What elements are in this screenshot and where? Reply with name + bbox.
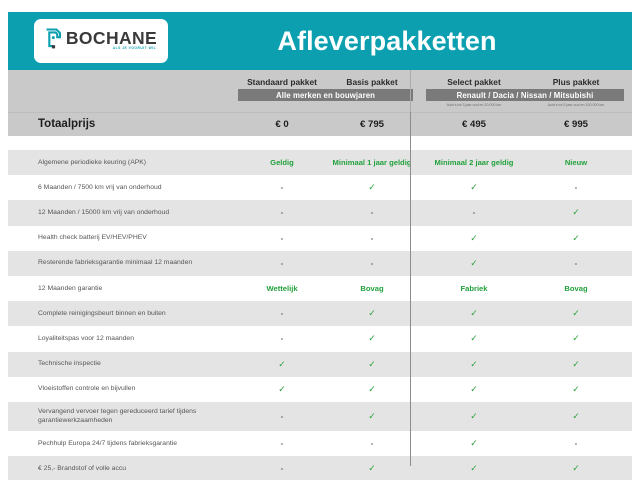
feature-label: Algemene periodieke keuring (APK): [38, 150, 238, 175]
feature-value-select: Minimaal 2 jaar geldig: [422, 150, 526, 175]
packages-comparison-table: Standaard pakket Basis pakket Select pak…: [8, 70, 632, 466]
table-column-headers: Standaard pakket Basis pakket Select pak…: [8, 70, 632, 112]
total-price-standaard: € 0: [230, 119, 334, 130]
feature-value-basis: ✓: [324, 402, 420, 431]
feature-value-basis: -: [324, 200, 420, 225]
feature-label: 6 Maanden / 7500 km vrij van onderhoud: [38, 175, 238, 200]
feature-value-plus: ✓: [526, 200, 626, 225]
feature-value-plus: ✓: [526, 402, 626, 431]
column-header-plus: Plus pakket: [526, 77, 626, 87]
feature-value-plus: ✓: [526, 226, 626, 251]
feature-value-standaard: -: [230, 175, 334, 200]
feature-value-select: -: [422, 200, 526, 225]
table-row: Loyaliteitspas voor 12 maanden-✓✓✓: [8, 326, 632, 351]
feature-value-basis: Minimaal 1 jaar geldig: [324, 150, 420, 175]
total-price-label: Totaalprijs: [38, 118, 95, 130]
column-header-select: Select pakket: [422, 77, 526, 87]
table-row: € 25,- Brandstof of volle accu-✓✓✓: [8, 456, 632, 480]
column-header-standaard: Standaard pakket: [230, 77, 334, 87]
brand-logo: BOCHANE ALS JE VOORUIT WIL: [45, 28, 157, 55]
feature-value-basis: ✓: [324, 456, 420, 480]
feature-value-basis: -: [324, 431, 420, 456]
feature-value-plus: Bovag: [526, 276, 626, 301]
group-divider: [410, 112, 411, 466]
feature-label: Loyaliteitspas voor 12 maanden: [38, 326, 238, 351]
feature-value-select: ✓: [422, 352, 526, 377]
column-note-select: Auto's tot 3 jaar oud en 20.000 km: [422, 103, 526, 107]
feature-label: Pechhulp Europa 24/7 tijdens fabrieksgar…: [38, 431, 238, 456]
afleverpakketten-sheet: BOCHANE ALS JE VOORUIT WIL Afleverpakket…: [0, 0, 640, 480]
feature-value-select: ✓: [422, 226, 526, 251]
feature-value-select: ✓: [422, 377, 526, 402]
feature-value-plus: ✓: [526, 456, 626, 480]
table-row: Algemene periodieke keuring (APK)GeldigM…: [8, 150, 632, 175]
feature-value-select: Fabriek: [422, 276, 526, 301]
brand-tagline: ALS JE VOORUIT WIL: [113, 47, 156, 50]
feature-value-standaard: -: [230, 226, 334, 251]
column-note-plus: Auto's tot 5 jaar oud en 100.000 km: [526, 103, 626, 107]
feature-label: € 25,- Brandstof of volle accu: [38, 456, 238, 480]
feature-label: 12 Maanden garantie: [38, 276, 238, 301]
feature-value-standaard: -: [230, 301, 334, 326]
table-row: Resterende fabrieksgarantie minimaal 12 …: [8, 251, 632, 276]
feature-value-select: ✓: [422, 326, 526, 351]
bochane-b-mark-icon: [45, 28, 62, 50]
total-price-select: € 495: [422, 119, 526, 130]
feature-label: Complete reinigingsbeurt binnen en buite…: [38, 301, 238, 326]
feature-value-plus: -: [526, 175, 626, 200]
page-header: BOCHANE ALS JE VOORUIT WIL Afleverpakket…: [8, 12, 632, 70]
feature-value-plus: ✓: [526, 326, 626, 351]
feature-value-select: ✓: [422, 175, 526, 200]
brand-logo-text: BOCHANE ALS JE VOORUIT WIL: [66, 30, 157, 48]
feature-value-standaard: -: [230, 326, 334, 351]
page-title: Afleverpakketten: [168, 26, 632, 57]
feature-value-plus: ✓: [526, 301, 626, 326]
total-price-row: Totaalprijs € 0 € 795 € 495 € 995: [8, 112, 632, 136]
total-price-plus: € 995: [526, 119, 626, 130]
total-price-basis: € 795: [324, 119, 420, 130]
feature-label: Resterende fabrieksgarantie minimaal 12 …: [38, 251, 238, 276]
table-row: 12 Maanden garantieWettelijkBovagFabriek…: [8, 276, 632, 301]
feature-value-select: ✓: [422, 456, 526, 480]
table-row: Vloeistoffen controle en bijvullen✓✓✓✓: [8, 377, 632, 402]
feature-value-standaard: -: [230, 431, 334, 456]
feature-value-standaard: Wettelijk: [230, 276, 334, 301]
feature-value-standaard: -: [230, 456, 334, 480]
feature-label: 12 Maanden / 15000 km vrij van onderhoud: [38, 200, 238, 225]
table-row: 6 Maanden / 7500 km vrij van onderhoud-✓…: [8, 175, 632, 200]
group-divider-top: [410, 70, 411, 112]
feature-label: Health check batterij EV/HEV/PHEV: [38, 226, 238, 251]
feature-value-plus: -: [526, 251, 626, 276]
feature-value-basis: ✓: [324, 175, 420, 200]
group-bar-all-brands: Alle merken en bouwjaren: [238, 89, 413, 101]
feature-value-standaard: -: [230, 200, 334, 225]
feature-value-select: ✓: [422, 402, 526, 431]
table-row: 12 Maanden / 15000 km vrij van onderhoud…: [8, 200, 632, 225]
feature-label: Vloeistoffen controle en bijvullen: [38, 377, 238, 402]
feature-value-select: ✓: [422, 251, 526, 276]
table-row: Health check batterij EV/HEV/PHEV--✓✓: [8, 226, 632, 251]
table-row: Pechhulp Europa 24/7 tijdens fabrieksgar…: [8, 431, 632, 456]
feature-value-select: ✓: [422, 301, 526, 326]
feature-value-standaard: -: [230, 251, 334, 276]
feature-value-plus: ✓: [526, 377, 626, 402]
feature-value-standaard: -: [230, 402, 334, 431]
table-row: Complete reinigingsbeurt binnen en buite…: [8, 301, 632, 326]
feature-rows: Algemene periodieke keuring (APK)GeldigM…: [8, 150, 632, 480]
table-spacer: [8, 136, 632, 150]
feature-value-standaard: ✓: [230, 377, 334, 402]
feature-value-basis: Bovag: [324, 276, 420, 301]
feature-label: Vervangend vervoer tegen gereduceerd tar…: [38, 402, 238, 431]
feature-label: Technische inspectie: [38, 352, 238, 377]
table-row: Technische inspectie✓✓✓✓: [8, 352, 632, 377]
group-bar-renault-group: Renault / Dacia / Nissan / Mitsubishi: [426, 89, 624, 101]
feature-value-select: ✓: [422, 431, 526, 456]
feature-value-basis: ✓: [324, 352, 420, 377]
feature-value-plus: -: [526, 431, 626, 456]
feature-value-standaard: ✓: [230, 352, 334, 377]
feature-value-basis: ✓: [324, 377, 420, 402]
feature-value-basis: ✓: [324, 301, 420, 326]
feature-value-plus: Nieuw: [526, 150, 626, 175]
brand-name: BOCHANE: [66, 30, 157, 48]
feature-value-plus: ✓: [526, 352, 626, 377]
brand-logo-card: BOCHANE ALS JE VOORUIT WIL: [34, 19, 168, 63]
feature-value-basis: ✓: [324, 326, 420, 351]
table-row: Vervangend vervoer tegen gereduceerd tar…: [8, 402, 632, 431]
feature-value-basis: -: [324, 251, 420, 276]
feature-value-basis: -: [324, 226, 420, 251]
feature-value-standaard: Geldig: [230, 150, 334, 175]
column-header-basis: Basis pakket: [324, 77, 420, 87]
